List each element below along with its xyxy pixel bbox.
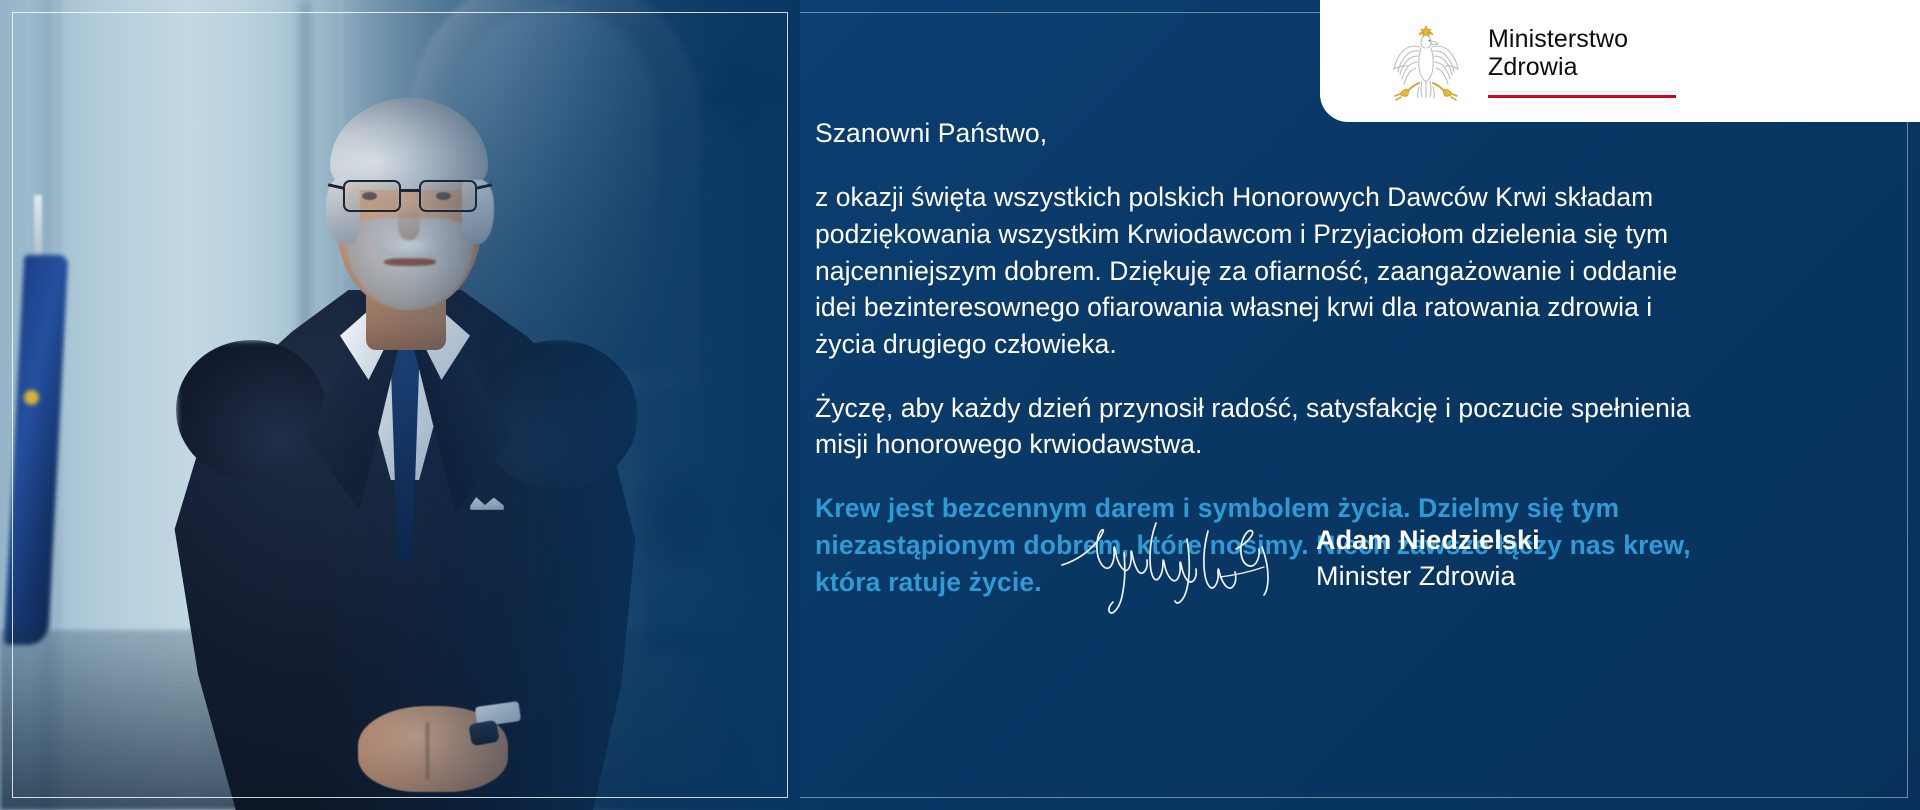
message-panel: Ministerstwo Zdrowia Szanowni Państwo, z… — [800, 0, 1920, 810]
logo-line-zdrowia: Zdrowia — [1488, 53, 1676, 82]
logo-line-ministerstwo: Ministerstwo — [1488, 25, 1676, 54]
signer-name: Adam Niedzielski — [1316, 523, 1540, 559]
ministry-logo-card: Ministerstwo Zdrowia — [1320, 0, 1920, 122]
salutation: Szanowni Państwo, — [815, 116, 1715, 151]
photo-gradient-overlay — [0, 0, 800, 810]
signer-identity: Adam Niedzielski Minister Zdrowia — [1316, 505, 1540, 594]
signer-title: Minister Zdrowia — [1316, 559, 1540, 595]
ministry-message-banner: Ministerstwo Zdrowia Szanowni Państwo, z… — [0, 0, 1920, 810]
polish-flag-rule — [1488, 91, 1676, 98]
paragraph-2: Życzę, aby każdy dzień przynosił radość,… — [815, 390, 1715, 463]
signature-block: Adam Niedzielski Minister Zdrowia — [1060, 505, 1890, 645]
polish-eagle-icon — [1386, 19, 1466, 103]
paragraph-1: z okazji święta wszystkich polskich Hono… — [815, 179, 1715, 362]
minister-photo — [0, 0, 800, 810]
handwritten-signature — [1060, 509, 1290, 619]
